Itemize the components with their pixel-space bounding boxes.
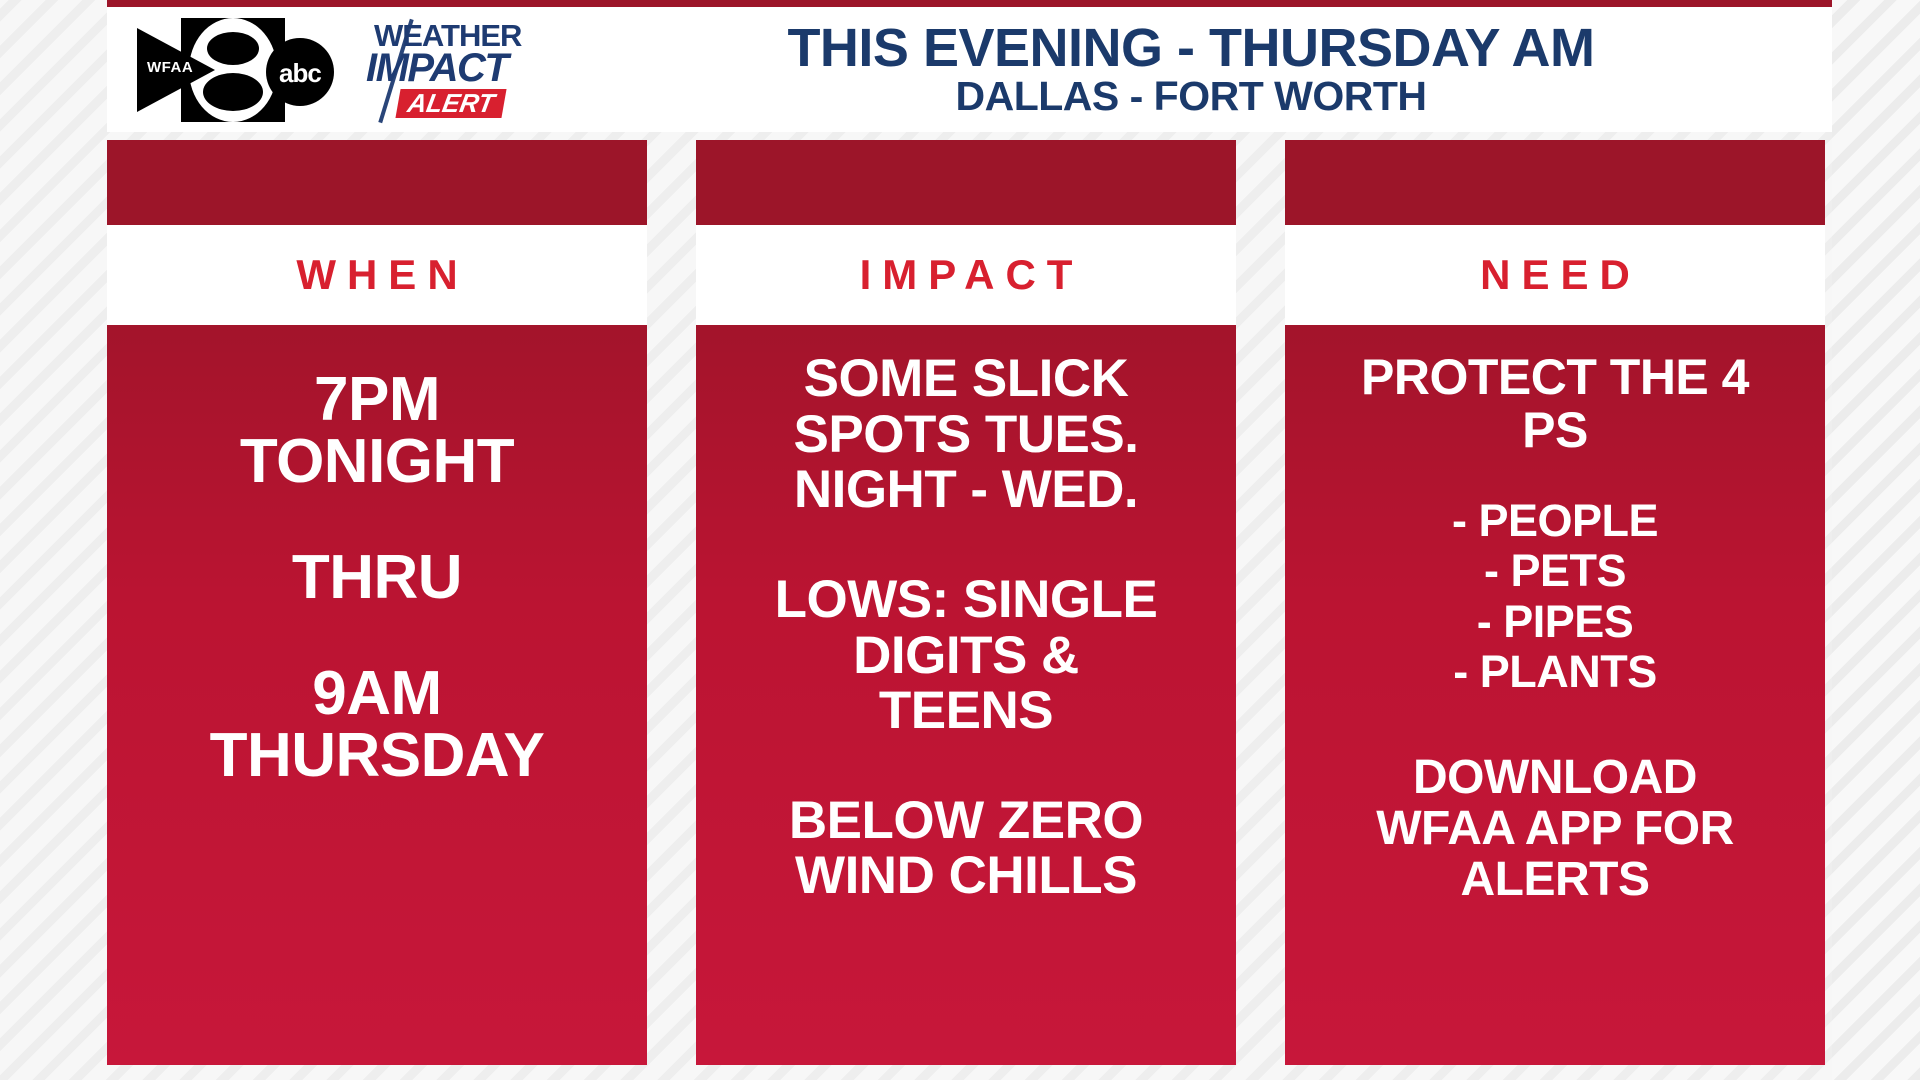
header-bar: WFAA abc WEATHER IMPACT ALERT THIS EVENI… [107, 7, 1832, 132]
when-block-1: 7PM TONIGHT [121, 369, 633, 493]
impact-line: LOWS: SINGLE [710, 572, 1222, 628]
column-impact: IMPACT SOME SLICK SPOTS TUES. NIGHT - WE… [696, 140, 1236, 1065]
impact-block-3: BELOW ZERO WIND CHILLS [710, 793, 1222, 904]
column-need-header: NEED [1285, 225, 1825, 325]
impact-block-1: SOME SLICK SPOTS TUES. NIGHT - WED. [710, 351, 1222, 518]
page-title: THIS EVENING - THURSDAY AM [580, 21, 1802, 75]
need-block-1: PROTECT THE 4 PS [1299, 351, 1811, 456]
need-line: - PIPES [1299, 597, 1811, 647]
weather-impact-alert-logo: WEATHER IMPACT ALERT [352, 19, 570, 121]
need-line: - PLANTS [1299, 647, 1811, 697]
when-block-2: THRU [121, 547, 633, 609]
need-line: WFAA APP FOR [1299, 803, 1811, 854]
logo-impact-text: IMPACT [352, 50, 570, 87]
need-block-3: DOWNLOAD WFAA APP FOR ALERTS [1299, 752, 1811, 906]
impact-line: BELOW ZERO [710, 793, 1222, 849]
abc-wordmark: abc [279, 58, 321, 89]
when-line: TONIGHT [121, 431, 633, 493]
need-line: DOWNLOAD [1299, 752, 1811, 803]
impact-line: DIGITS & [710, 628, 1222, 684]
page-subtitle: DALLAS - FORT WORTH [580, 75, 1802, 118]
column-impact-header: IMPACT [696, 225, 1236, 325]
when-block-3: 9AM THURSDAY [121, 663, 633, 787]
wfaa-wordmark: WFAA [147, 59, 193, 76]
when-line: THRU [121, 547, 633, 609]
when-line: 7PM [121, 369, 633, 431]
logo-alert-text: ALERT [406, 90, 497, 116]
impact-line: WIND CHILLS [710, 848, 1222, 904]
headline-block: THIS EVENING - THURSDAY AM DALLAS - FORT… [570, 21, 1832, 118]
column-when-header: WHEN [107, 225, 647, 325]
logo-alert-badge: ALERT [395, 89, 506, 118]
column-impact-body: SOME SLICK SPOTS TUES. NIGHT - WED. LOWS… [696, 325, 1236, 1065]
impact-block-2: LOWS: SINGLE DIGITS & TEENS [710, 572, 1222, 739]
need-block-2: - PEOPLE - PETS - PIPES - PLANTS [1299, 496, 1811, 698]
need-line: PROTECT THE 4 [1299, 351, 1811, 404]
column-need-body: PROTECT THE 4 PS - PEOPLE - PETS - PIPES… [1285, 325, 1825, 1065]
when-line: 9AM [121, 663, 633, 725]
column-need: NEED PROTECT THE 4 PS - PEOPLE - PETS - … [1285, 140, 1825, 1065]
need-line: PS [1299, 404, 1811, 457]
column-when-body: 7PM TONIGHT THRU 9AM THURSDAY [107, 325, 647, 1065]
column-when: WHEN 7PM TONIGHT THRU 9AM THURSDAY [107, 140, 647, 1065]
when-line: THURSDAY [121, 725, 633, 787]
impact-line: SOME SLICK [710, 351, 1222, 407]
column-when-title: WHEN [285, 251, 468, 299]
impact-line: NIGHT - WED. [710, 462, 1222, 518]
column-impact-topbar [696, 140, 1236, 225]
wfaa-8-abc-logo: WFAA abc [129, 16, 334, 124]
column-when-topbar [107, 140, 647, 225]
column-impact-title: IMPACT [849, 251, 1084, 299]
need-line: - PETS [1299, 546, 1811, 596]
need-line: ALERTS [1299, 854, 1811, 905]
background-right-edge [1832, 0, 1920, 1080]
column-need-title: NEED [1469, 251, 1641, 299]
column-need-topbar [1285, 140, 1825, 225]
impact-line: SPOTS TUES. [710, 407, 1222, 463]
impact-line: TEENS [710, 683, 1222, 739]
need-line: - PEOPLE [1299, 496, 1811, 546]
